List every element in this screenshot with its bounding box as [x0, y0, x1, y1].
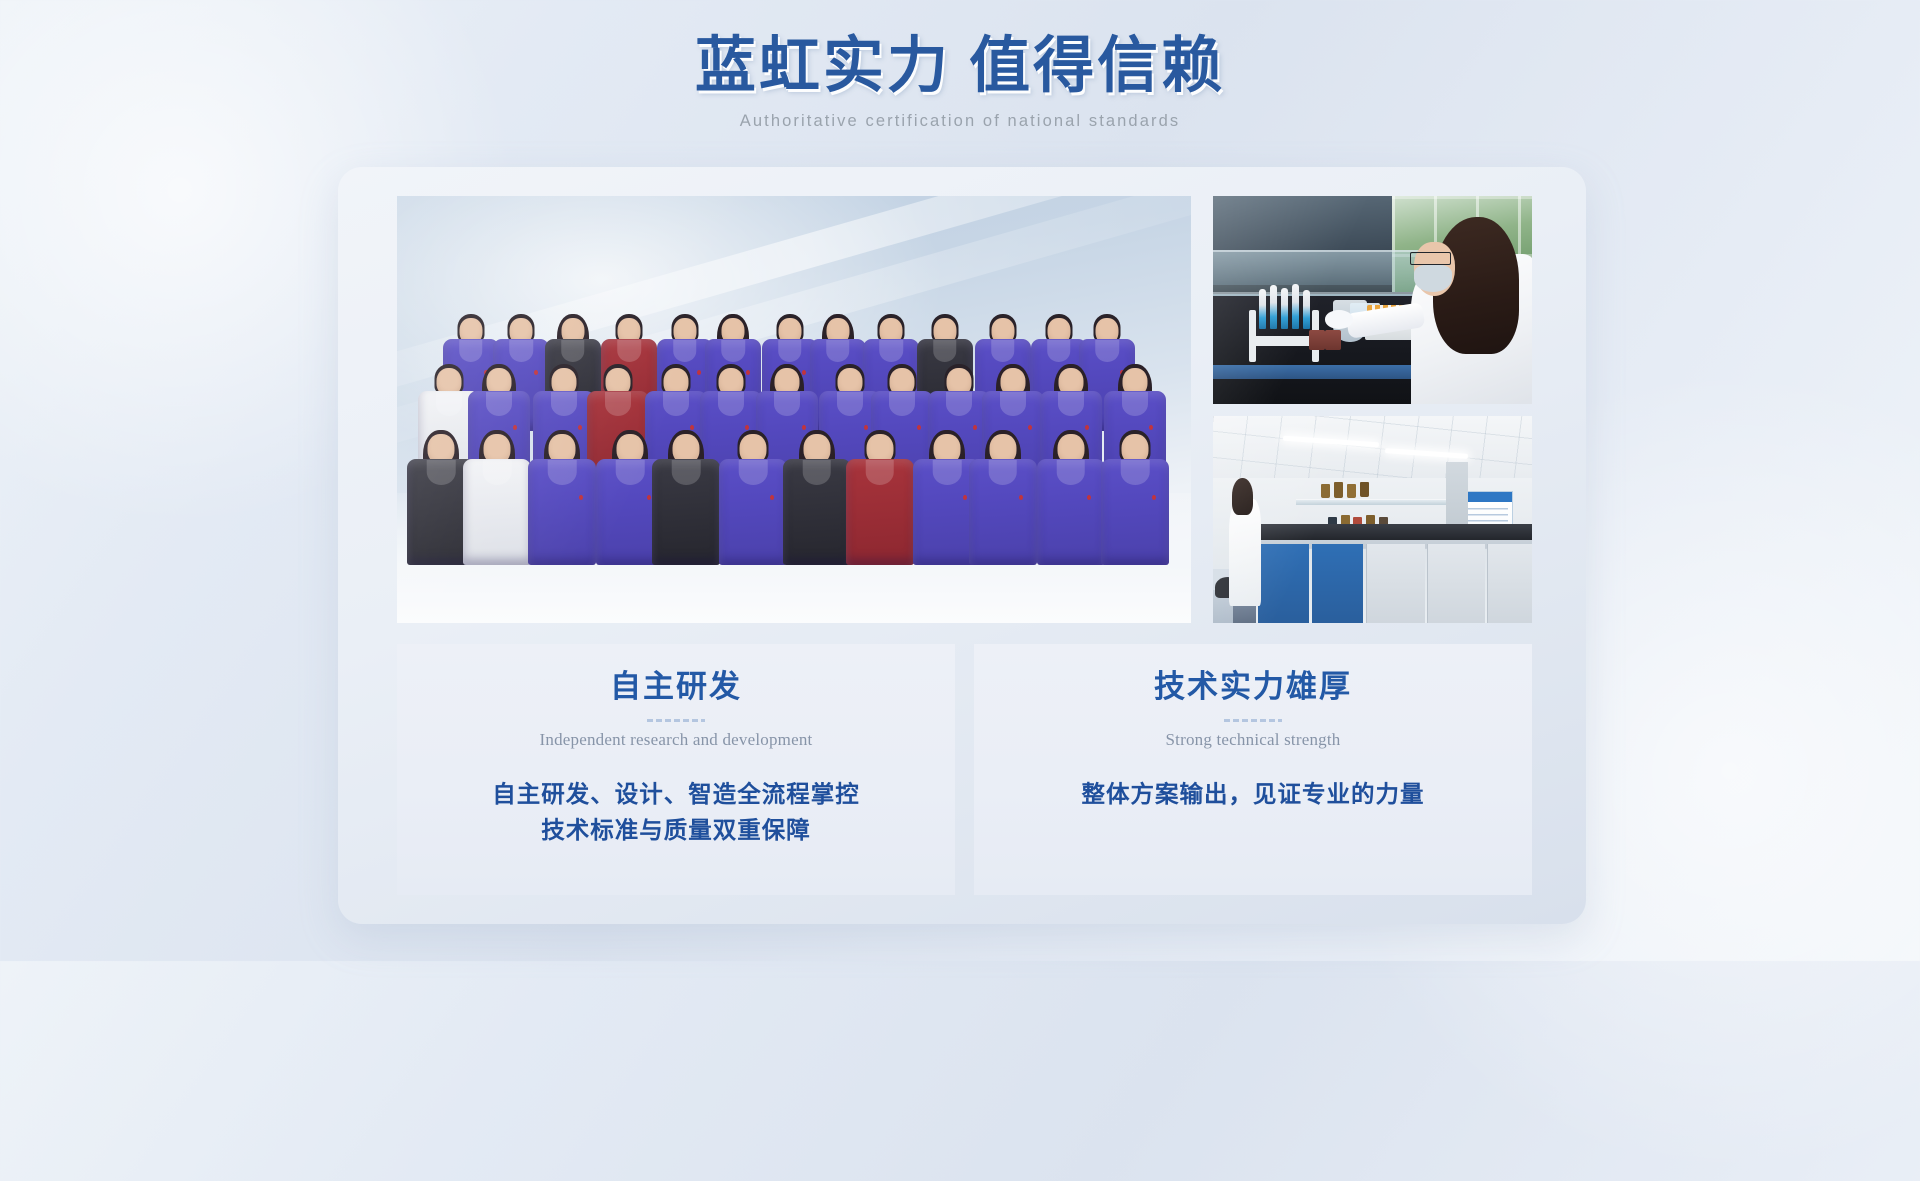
safety-glasses-icon [1410, 252, 1450, 264]
uniform-collar [1047, 340, 1071, 362]
gallery-right-column [1213, 196, 1532, 623]
uniform-collar [879, 340, 903, 362]
uniform-collar [774, 392, 800, 416]
lab-ceiling [1213, 416, 1532, 484]
reagent-bottle [1321, 484, 1330, 498]
team-member [652, 430, 720, 569]
uniform-logo [1087, 495, 1091, 500]
lab-counter-top [1251, 524, 1532, 541]
uniform-collar [717, 392, 743, 416]
team-member-uniform [719, 459, 787, 565]
page-subtitle: Authoritative certification of national … [0, 113, 1920, 130]
feature-cards: 自主研发 Independent research and developmen… [397, 644, 1532, 895]
content-panel: 自主研发 Independent research and developmen… [338, 167, 1586, 924]
uniform-collar [826, 340, 850, 362]
card-description-line: 自主研发、设计、智造全流程掌控 [492, 777, 860, 813]
lab-cabinet [1366, 544, 1424, 623]
uniform-collar [1058, 392, 1084, 416]
team-member-uniform [969, 459, 1037, 565]
reagent-bottle [1309, 330, 1325, 350]
team-member [846, 430, 914, 569]
team-member-uniform [783, 459, 851, 565]
page-header: 蓝虹实力 值得信赖 Authoritative certification of… [0, 0, 1920, 130]
uniform-collar [459, 340, 483, 362]
team-member [783, 430, 851, 569]
uniform-logo [647, 495, 651, 500]
uniform-collar [1122, 392, 1148, 416]
uniform-collar [551, 392, 577, 416]
card-description: 整体方案输出，见证专业的力量 [1082, 751, 1425, 813]
uniform-collar [1096, 340, 1120, 362]
feature-card-rd: 自主研发 Independent research and developmen… [397, 644, 955, 895]
team-member [969, 430, 1037, 569]
reagent-bottle [1347, 484, 1356, 498]
team-member [719, 430, 787, 569]
card-description-line: 技术标准与质量双重保障 [492, 813, 860, 849]
team-photo [397, 196, 1191, 623]
pipette-rack [1253, 336, 1315, 346]
technician-hair [1232, 478, 1253, 515]
uniform-collar [486, 392, 512, 416]
team-member-uniform [846, 459, 914, 565]
lab-room-photo [1213, 416, 1532, 623]
uniform-collar [1121, 460, 1150, 485]
team-member-uniform [1101, 459, 1169, 565]
uniform-collar [933, 460, 962, 485]
lab-cabinet [1312, 544, 1363, 623]
pipette-rack-post [1249, 310, 1256, 362]
uniform-collar [605, 392, 631, 416]
card-title: 自主研发 [610, 668, 742, 707]
uniform-collar [991, 340, 1015, 362]
card-subtitle: Strong technical strength [1166, 729, 1341, 751]
team-member [1037, 430, 1105, 569]
reagent-bottle [1334, 482, 1343, 498]
card-description: 自主研发、设计、智造全流程掌控 技术标准与质量双重保障 [492, 751, 860, 850]
uniform-collar [616, 460, 645, 485]
card-title: 技术实力雄厚 [1154, 668, 1352, 707]
lab-cabinet [1427, 544, 1485, 623]
page-title: 蓝虹实力 值得信赖 [0, 33, 1920, 101]
uniform-collar [739, 460, 768, 485]
uniform-collar [673, 340, 697, 362]
feature-card-tech: 技术实力雄厚 Strong technical strength 整体方案输出，… [974, 644, 1532, 895]
lab-cabinet [1258, 544, 1309, 623]
uniform-collar [510, 340, 534, 362]
uniform-collar [548, 460, 577, 485]
team-member [1101, 430, 1169, 569]
reagent-shelf [1296, 499, 1456, 505]
team-member [528, 430, 596, 569]
gallery [397, 196, 1532, 623]
uniform-collar [988, 460, 1017, 485]
uniform-collar [617, 340, 641, 362]
card-divider [647, 719, 705, 722]
uniform-collar [945, 392, 971, 416]
uniform-collar [722, 340, 746, 362]
uniform-logo [1152, 495, 1156, 500]
uniform-logo [1019, 495, 1023, 500]
uniform-collar [436, 392, 462, 416]
uniform-collar [427, 460, 456, 485]
pipette-icon [1259, 289, 1266, 329]
uniform-logo [579, 495, 583, 500]
uniform-collar [802, 460, 831, 485]
reagent-bottle [1360, 482, 1369, 497]
card-subtitle: Independent research and development [540, 729, 813, 751]
uniform-collar [561, 340, 585, 362]
uniform-collar [933, 340, 957, 362]
pipette-icon [1292, 284, 1299, 329]
uniform-logo [963, 495, 967, 500]
uniform-collar [889, 392, 915, 416]
pipette-icon [1270, 285, 1277, 329]
team-member-uniform [652, 459, 720, 565]
lab-bench-photo [1213, 196, 1532, 404]
uniform-collar [865, 460, 894, 485]
reagent-bottle [1325, 330, 1341, 350]
uniform-collar [778, 340, 802, 362]
pipette-icon [1303, 290, 1310, 329]
team-photo-people [397, 295, 1191, 585]
pipette-icon [1281, 288, 1288, 329]
card-description-line: 整体方案输出，见证专业的力量 [1082, 777, 1425, 813]
uniform-logo [770, 495, 774, 500]
team-member-uniform [1037, 459, 1105, 565]
face-mask-icon [1414, 265, 1452, 292]
team-member-uniform [528, 459, 596, 565]
uniform-collar [672, 460, 701, 485]
uniform-collar [1056, 460, 1085, 485]
uniform-collar [483, 460, 512, 485]
uniform-collar [663, 392, 689, 416]
team-member [463, 430, 531, 569]
uniform-collar [1000, 392, 1026, 416]
team-member-uniform [463, 459, 531, 565]
lab-cabinet [1487, 544, 1532, 623]
uniform-collar [837, 392, 863, 416]
card-divider [1224, 719, 1282, 722]
